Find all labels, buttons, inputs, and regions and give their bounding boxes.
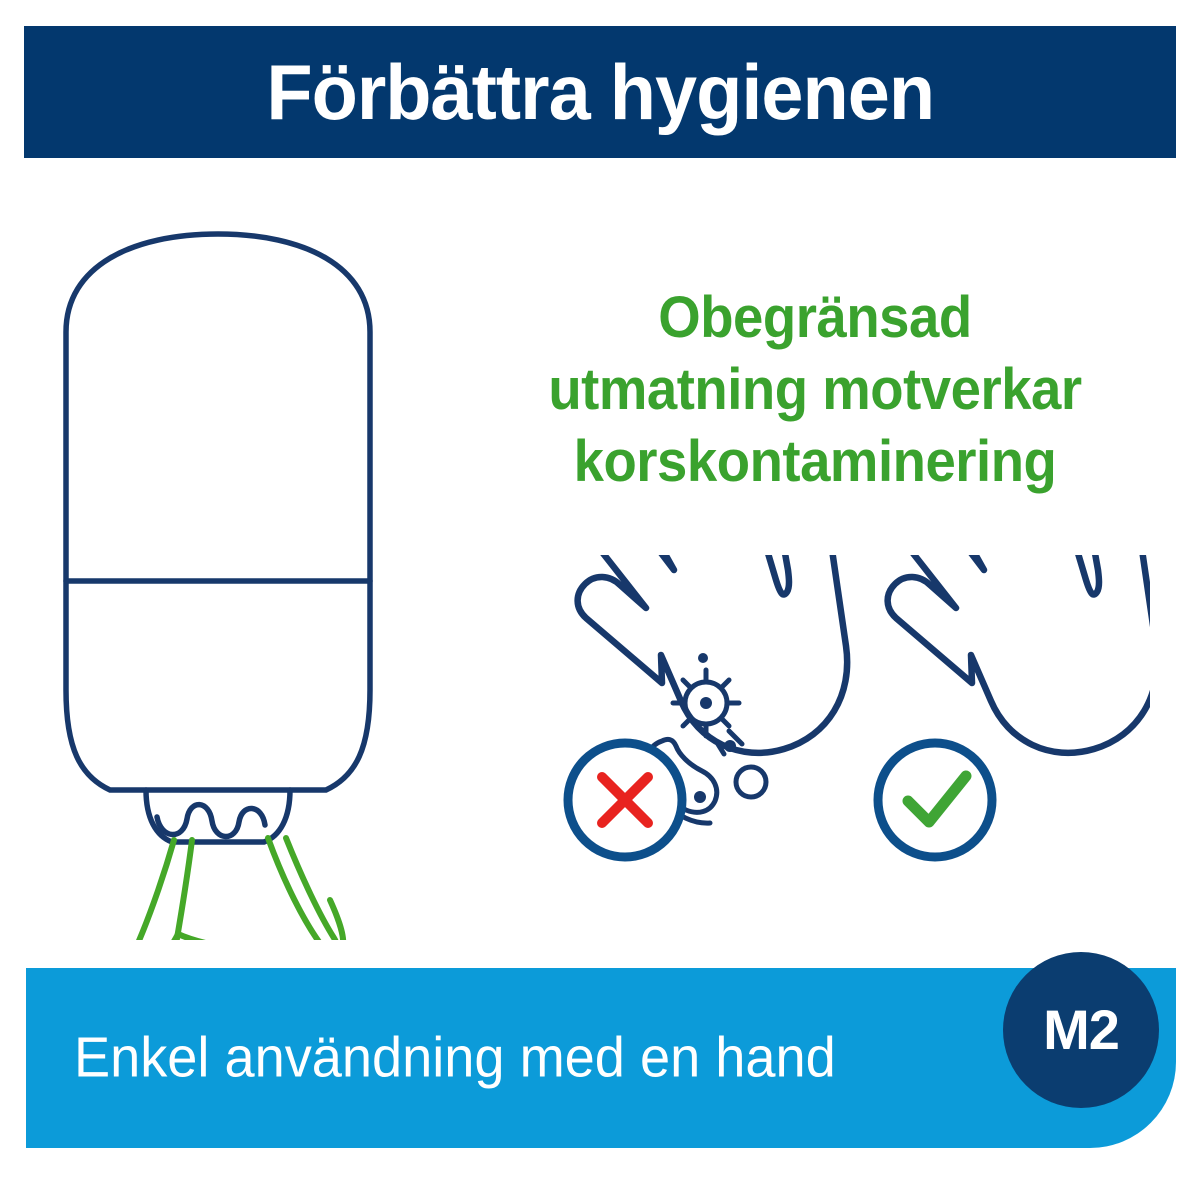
- headline-block: Obegränsad utmatning motverkar korskonta…: [491, 282, 1140, 498]
- contaminated-hand-icon: [568, 555, 847, 857]
- status-badge-not-allowed: [568, 743, 682, 857]
- paper-towel-icon: [131, 838, 343, 940]
- hands-illustration: [530, 555, 1150, 885]
- headline-line-1: Obegränsad: [491, 282, 1140, 354]
- dispenser-body-icon: [66, 234, 370, 790]
- footer-caption: Enkel användning med en hand: [74, 1030, 836, 1087]
- page-title: Förbättra hygienen: [266, 53, 934, 131]
- status-badge-allowed: [878, 743, 992, 857]
- poster-canvas: Förbättra hygienen Obegränsad utmatning …: [0, 0, 1200, 1200]
- product-code-badge: M2: [1003, 952, 1159, 1108]
- dispenser-illustration: [40, 210, 460, 940]
- badge-ring: [878, 743, 992, 857]
- footer-banner: Enkel användning med en hand M2: [26, 968, 1176, 1148]
- headline-line-3: korskontaminering: [491, 426, 1140, 498]
- product-code-label: M2: [1043, 1002, 1119, 1058]
- header-banner: Förbättra hygienen: [24, 26, 1176, 158]
- headline-line-2: utmatning motverkar: [491, 354, 1140, 426]
- clean-hand-icon: [878, 555, 1150, 857]
- dispenser-nozzle-icon: [146, 790, 290, 842]
